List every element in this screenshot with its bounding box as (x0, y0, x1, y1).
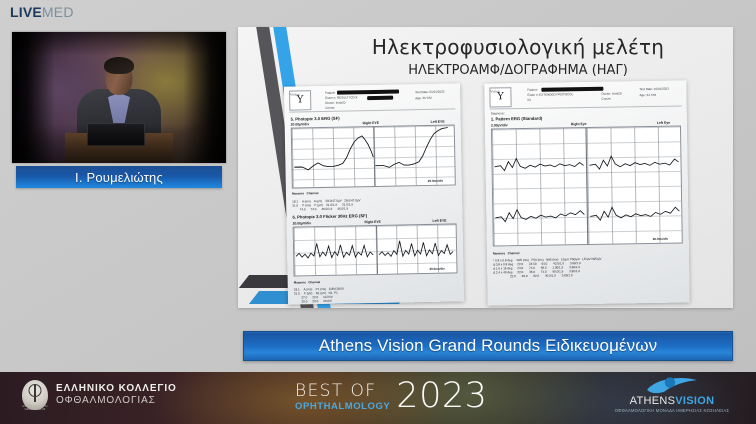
livemed-logo: LIVEMED (10, 5, 74, 19)
erg-right-chart-pattern (491, 126, 683, 247)
best-of-text-stack: BEST OF OPHTHALMOLOGY (295, 382, 390, 415)
erg-left-section2-left-eye: Left EYE (432, 219, 446, 223)
slide-subtitle: ΗΛΕΚΤΡΟΑΜΦ/ΔΟΓΡΑΦΗΜΑ (ΗΑΓ) (308, 63, 728, 78)
livemed-logo-light: MED (42, 4, 74, 20)
field-test-date: Test Date: 01/01/2023 (415, 90, 444, 95)
event-footer: ΕΛΛΗΝΙΚΟ ΚΟΛΛΕΓΙΟ ΟΦΘΑΛΜΟΛΟΓΙΑΣ ΕΛΛΗΝΙΚΟ… (0, 372, 756, 424)
best-of-line2: OPHTHALMOLOGY (295, 401, 390, 412)
erg-left-section2-scale: 20.00µV/div (293, 221, 312, 225)
erg-left-section2-label: 6. Photopic 3.0 Flicker 30Hz ERG (SF) (292, 213, 367, 219)
erg-left-section2-right-eye: Right EYE (365, 220, 381, 224)
erg-left-table2-headers: Measure Channel (294, 280, 321, 285)
field-exam: Exam n: EXTENDED PROTOCOL (527, 92, 573, 97)
erg-right-table-headers: Measure Channel (493, 251, 520, 255)
session-banner-label: Athens Vision Grand Rounds Ειδικευομένων (319, 336, 658, 356)
redaction-bar-exam (367, 96, 393, 100)
hellenic-college-line2: ΟΦΘΑΛΜΟΛΟΓΙΑΣ (56, 395, 177, 407)
erg-report-left[interactable]: Y Vision Patient: Exam n: RESULT ICD-9: … (284, 83, 464, 304)
clinic-logo-caption: Vision (490, 82, 500, 100)
clinic-logo-icon: Y Vision (289, 90, 311, 110)
erg-report-right-header: Y Vision Patient: Exam n: EXTENDED PROTO… (489, 85, 681, 110)
athens-vision-tagline: ΟΦΘΑΛΜΟΛΟΓΙΚΗ ΜΟΝΑΔΑ ΗΜΕΡΗΣΙΑΣ ΝΟΣΗΛΕΙΑΣ (598, 408, 746, 413)
hellenic-college-logo: ΕΛΛΗΝΙΚΟ ΚΟΛΛΕΓΙΟ ΟΦΘΑΛΜΟΛΟΓΙΑΣ ΕΛΛΗΝΙΚΟ… (22, 380, 177, 410)
best-of-line1: BEST OF (295, 382, 390, 401)
erg-right-chart-pattern-trace (492, 127, 682, 246)
erg-left-section1-scale: 20.00µV/div (291, 122, 310, 126)
eye-icon (598, 376, 746, 394)
presentation-slide[interactable]: Ηλεκτροφυσιολογική μελέτη ΗΛΕΚΤΡΟΑΜΦ/ΔΟΓ… (238, 27, 733, 308)
best-of-year: 2023 (396, 378, 487, 415)
field-patient: Patient: (527, 88, 537, 92)
erg-left-table1-row-2: 74.0 74.0 46.0/1.9 46.0/1.9 (292, 206, 348, 211)
hellenic-college-name: ΕΛΛΗΝΙΚΟ ΚΟΛΛΕΓΙΟ ΟΦΘΑΛΜΟΛΟΓΙΑΣ (56, 383, 177, 407)
erg-left-section1-left-eye: Left EYE (431, 120, 445, 124)
athens-vision-logo: ATHENSVISION ΟΦΘΑΛΜΟΛΟΓΙΚΗ ΜΟΝΑΔΑ ΗΜΕΡΗΣ… (598, 376, 746, 413)
erg-report-right[interactable]: Y Vision Patient: Exam n: EXTENDED PROTO… (484, 80, 689, 305)
broadcast-player: LIVEMED Ι. Ρουμελιώτης Ηλεκτροφυσιολογικ… (0, 0, 756, 424)
speaker-name-label: Ι. Ρουμελιώτης (75, 170, 163, 185)
speaker-name-bar: Ι. Ρουμελιώτης (16, 166, 222, 188)
redaction-bar-patient (337, 90, 399, 95)
field-doctor: Doctor: Invia20 (601, 91, 621, 96)
erg-right-table-row-4: 22.0 36.0 82.0 40.0/1.9 3.80/1.9 (493, 273, 572, 278)
erg-left-section2-timebase: 20.0ms/div (429, 267, 444, 271)
livemed-logo-bold: LIVE (10, 4, 42, 20)
erg-left-section1-right-eye: Right EYE (363, 121, 379, 125)
field-age: Age: 34 Y/M (639, 93, 656, 97)
caduceus-icon-caption: ΕΛΛΗΝΙΚΟ ΚΟΛΛΕΓΙΟ ΟΦΘΑΛΜΟΛΟΓΙΑΣ (22, 405, 48, 411)
field-comment: Comm: (601, 97, 611, 101)
erg-left-table1-headers: Measure Channel (292, 191, 319, 196)
field-age: Age: 34 Y/M (415, 96, 432, 101)
erg-left-section1-label: 5. Photopic 3.0 ERG (SF) (290, 116, 339, 122)
clinic-logo-icon: Y Vision (489, 87, 511, 107)
caduceus-icon: ΕΛΛΗΝΙΚΟ ΚΟΛΛΕΓΙΟ ΟΦΘΑΛΜΟΛΟΓΙΑΣ (22, 380, 48, 410)
athens-vision-name-bold: VISION (675, 395, 714, 407)
hellenic-college-line1: ΕΛΛΗΝΙΚΟ ΚΟΛΛΕΓΙΟ (56, 383, 177, 395)
erg-right-section1-scale: 2.00µV/div (491, 123, 508, 127)
slide-title: Ηλεκτροφυσιολογική μελέτη (308, 35, 728, 59)
redaction-bar-patient (541, 87, 603, 92)
erg-right-diagnosis-label: Diagnosis: (491, 111, 505, 115)
field-test-date: Test Date: 01/01/2023 (639, 87, 668, 92)
best-of-logo: BEST OF OPHTHALMOLOGY 2023 (295, 378, 487, 415)
erg-right-section1-label: 1. Pattern ERG (Standard) (491, 116, 542, 122)
field-id: ID: (527, 98, 531, 102)
field-patient: Patient: (325, 91, 335, 95)
erg-right-section1-left-eye: Left Eye (657, 121, 670, 125)
speaker-video[interactable] (12, 32, 226, 163)
athens-vision-name-light: ATHENS (630, 395, 676, 407)
erg-report-left-header: Y Vision Patient: Exam n: RESULT ICD-9: … (289, 87, 455, 112)
field-doctor: Doctor: Invia20 (325, 101, 345, 106)
erg-left-table2-row-3: 20.0 20.0 20.0/V (294, 299, 332, 304)
session-banner: Athens Vision Grand Rounds Ειδικευομένων (243, 331, 733, 361)
erg-left-section1-timebase: 20.0ms/div (428, 179, 443, 183)
erg-right-section1-right-eye: Right Eye (571, 122, 587, 126)
field-comment: Comm: (325, 106, 335, 110)
athens-vision-name: ATHENSVISION (598, 395, 746, 407)
clinic-logo-caption: Vision (290, 85, 300, 103)
erg-right-section1-timebase: 20.0ms/div (653, 237, 668, 241)
field-exam: Exam n: RESULT ICD-9: (325, 95, 358, 100)
video-vignette (12, 32, 226, 163)
